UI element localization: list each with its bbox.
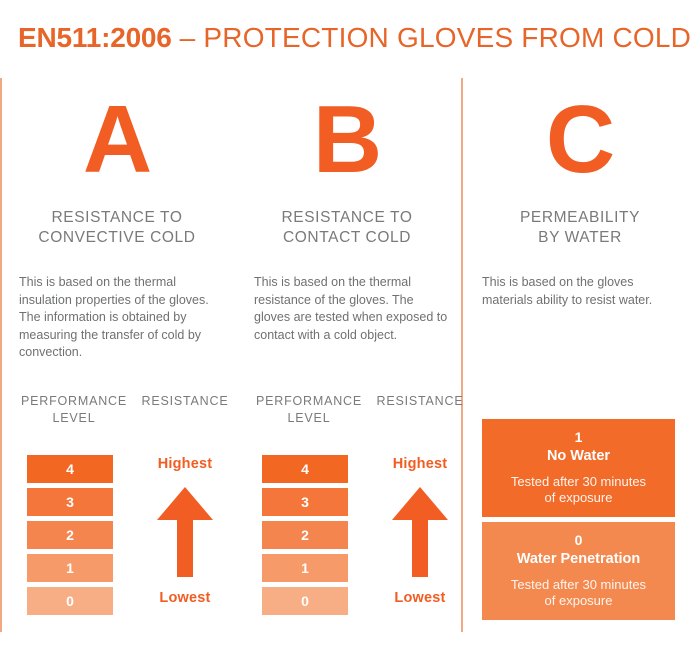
- column-b-body: This is based on the thermal resistance …: [254, 274, 450, 344]
- water-result-level: 0: [488, 531, 669, 549]
- arrow-stem: [412, 518, 428, 577]
- water-result-note-line1: Tested after 30 minutes: [488, 474, 669, 490]
- water-result-level: 1: [488, 428, 669, 446]
- level-bar: 2: [262, 521, 348, 549]
- column-a-performance-label: PERFORMANCE LEVEL: [19, 393, 129, 427]
- highest-label: Highest: [370, 455, 470, 473]
- arrow-stem: [177, 518, 193, 577]
- level-bar: 4: [262, 455, 348, 483]
- column-b-resistance-arrow-group: Highest Lowest: [370, 455, 470, 607]
- column-c-heading-line2: BY WATER: [468, 228, 692, 248]
- arrow-head: [157, 487, 213, 520]
- water-result-box: 1 No Water Tested after 30 minutes of ex…: [482, 419, 675, 517]
- lowest-label: Lowest: [135, 589, 235, 607]
- level-bar: 3: [27, 488, 113, 516]
- column-b-resistance-label: RESISTANCE: [370, 393, 470, 410]
- column-b-heading: RESISTANCE TO CONTACT COLD: [238, 208, 456, 248]
- column-a: A RESISTANCE TO CONVECTIVE COLD This is …: [8, 78, 226, 634]
- column-b-performance-label: PERFORMANCE LEVEL: [254, 393, 364, 427]
- level-bar: 4: [27, 455, 113, 483]
- column-b-heading-line1: RESISTANCE TO: [238, 208, 456, 228]
- column-a-letter: A: [8, 92, 226, 188]
- column-a-heading-line2: CONVECTIVE COLD: [8, 228, 226, 248]
- standard-code: EN511:2006: [18, 22, 172, 53]
- water-result-name: No Water: [488, 446, 669, 466]
- column-a-resistance-label: RESISTANCE: [135, 393, 235, 410]
- column-c-letter: C: [468, 92, 692, 188]
- column-divider-1: [0, 78, 2, 632]
- water-result-name: Water Penetration: [488, 549, 669, 569]
- column-c-heading-line1: PERMEABILITY: [468, 208, 692, 228]
- up-arrow-icon: [157, 487, 213, 577]
- level-bar: 2: [27, 521, 113, 549]
- level-bar: 0: [262, 587, 348, 615]
- column-a-body: This is based on the thermal insulation …: [19, 274, 215, 362]
- column-b-heading-line2: CONTACT COLD: [238, 228, 456, 248]
- column-a-resistance-arrow-group: Highest Lowest: [135, 455, 235, 607]
- water-result-note-line2: of exposure: [488, 490, 669, 506]
- column-b-letter: B: [238, 92, 456, 188]
- level-bar: 1: [262, 554, 348, 582]
- column-a-heading-line1: RESISTANCE TO: [8, 208, 226, 228]
- columns-container: A RESISTANCE TO CONVECTIVE COLD This is …: [0, 78, 700, 634]
- column-c-body: This is based on the gloves materials ab…: [482, 274, 682, 309]
- column-b: B RESISTANCE TO CONTACT COLD This is bas…: [238, 78, 456, 634]
- level-bar: 1: [27, 554, 113, 582]
- infographic-page: EN511:2006 – PROTECTION GLOVES FROM COLD…: [0, 0, 700, 648]
- column-c-heading: PERMEABILITY BY WATER: [468, 208, 692, 248]
- level-bar: 0: [27, 587, 113, 615]
- water-result-note-line2: of exposure: [488, 593, 669, 609]
- highest-label: Highest: [135, 455, 235, 473]
- up-arrow-icon: [392, 487, 448, 577]
- water-result-note-line1: Tested after 30 minutes: [488, 577, 669, 593]
- title-separator: –: [172, 22, 204, 53]
- level-bar: 3: [262, 488, 348, 516]
- arrow-head: [392, 487, 448, 520]
- lowest-label: Lowest: [370, 589, 470, 607]
- water-result-box: 0 Water Penetration Tested after 30 minu…: [482, 522, 675, 620]
- column-c: C PERMEABILITY BY WATER This is based on…: [468, 78, 692, 634]
- title-rest: PROTECTION GLOVES FROM COLD: [203, 22, 691, 53]
- column-b-level-bars: 4 3 2 1 0: [262, 455, 348, 620]
- column-a-heading: RESISTANCE TO CONVECTIVE COLD: [8, 208, 226, 248]
- column-a-level-bars: 4 3 2 1 0: [27, 455, 113, 620]
- page-title: EN511:2006 – PROTECTION GLOVES FROM COLD: [18, 22, 691, 54]
